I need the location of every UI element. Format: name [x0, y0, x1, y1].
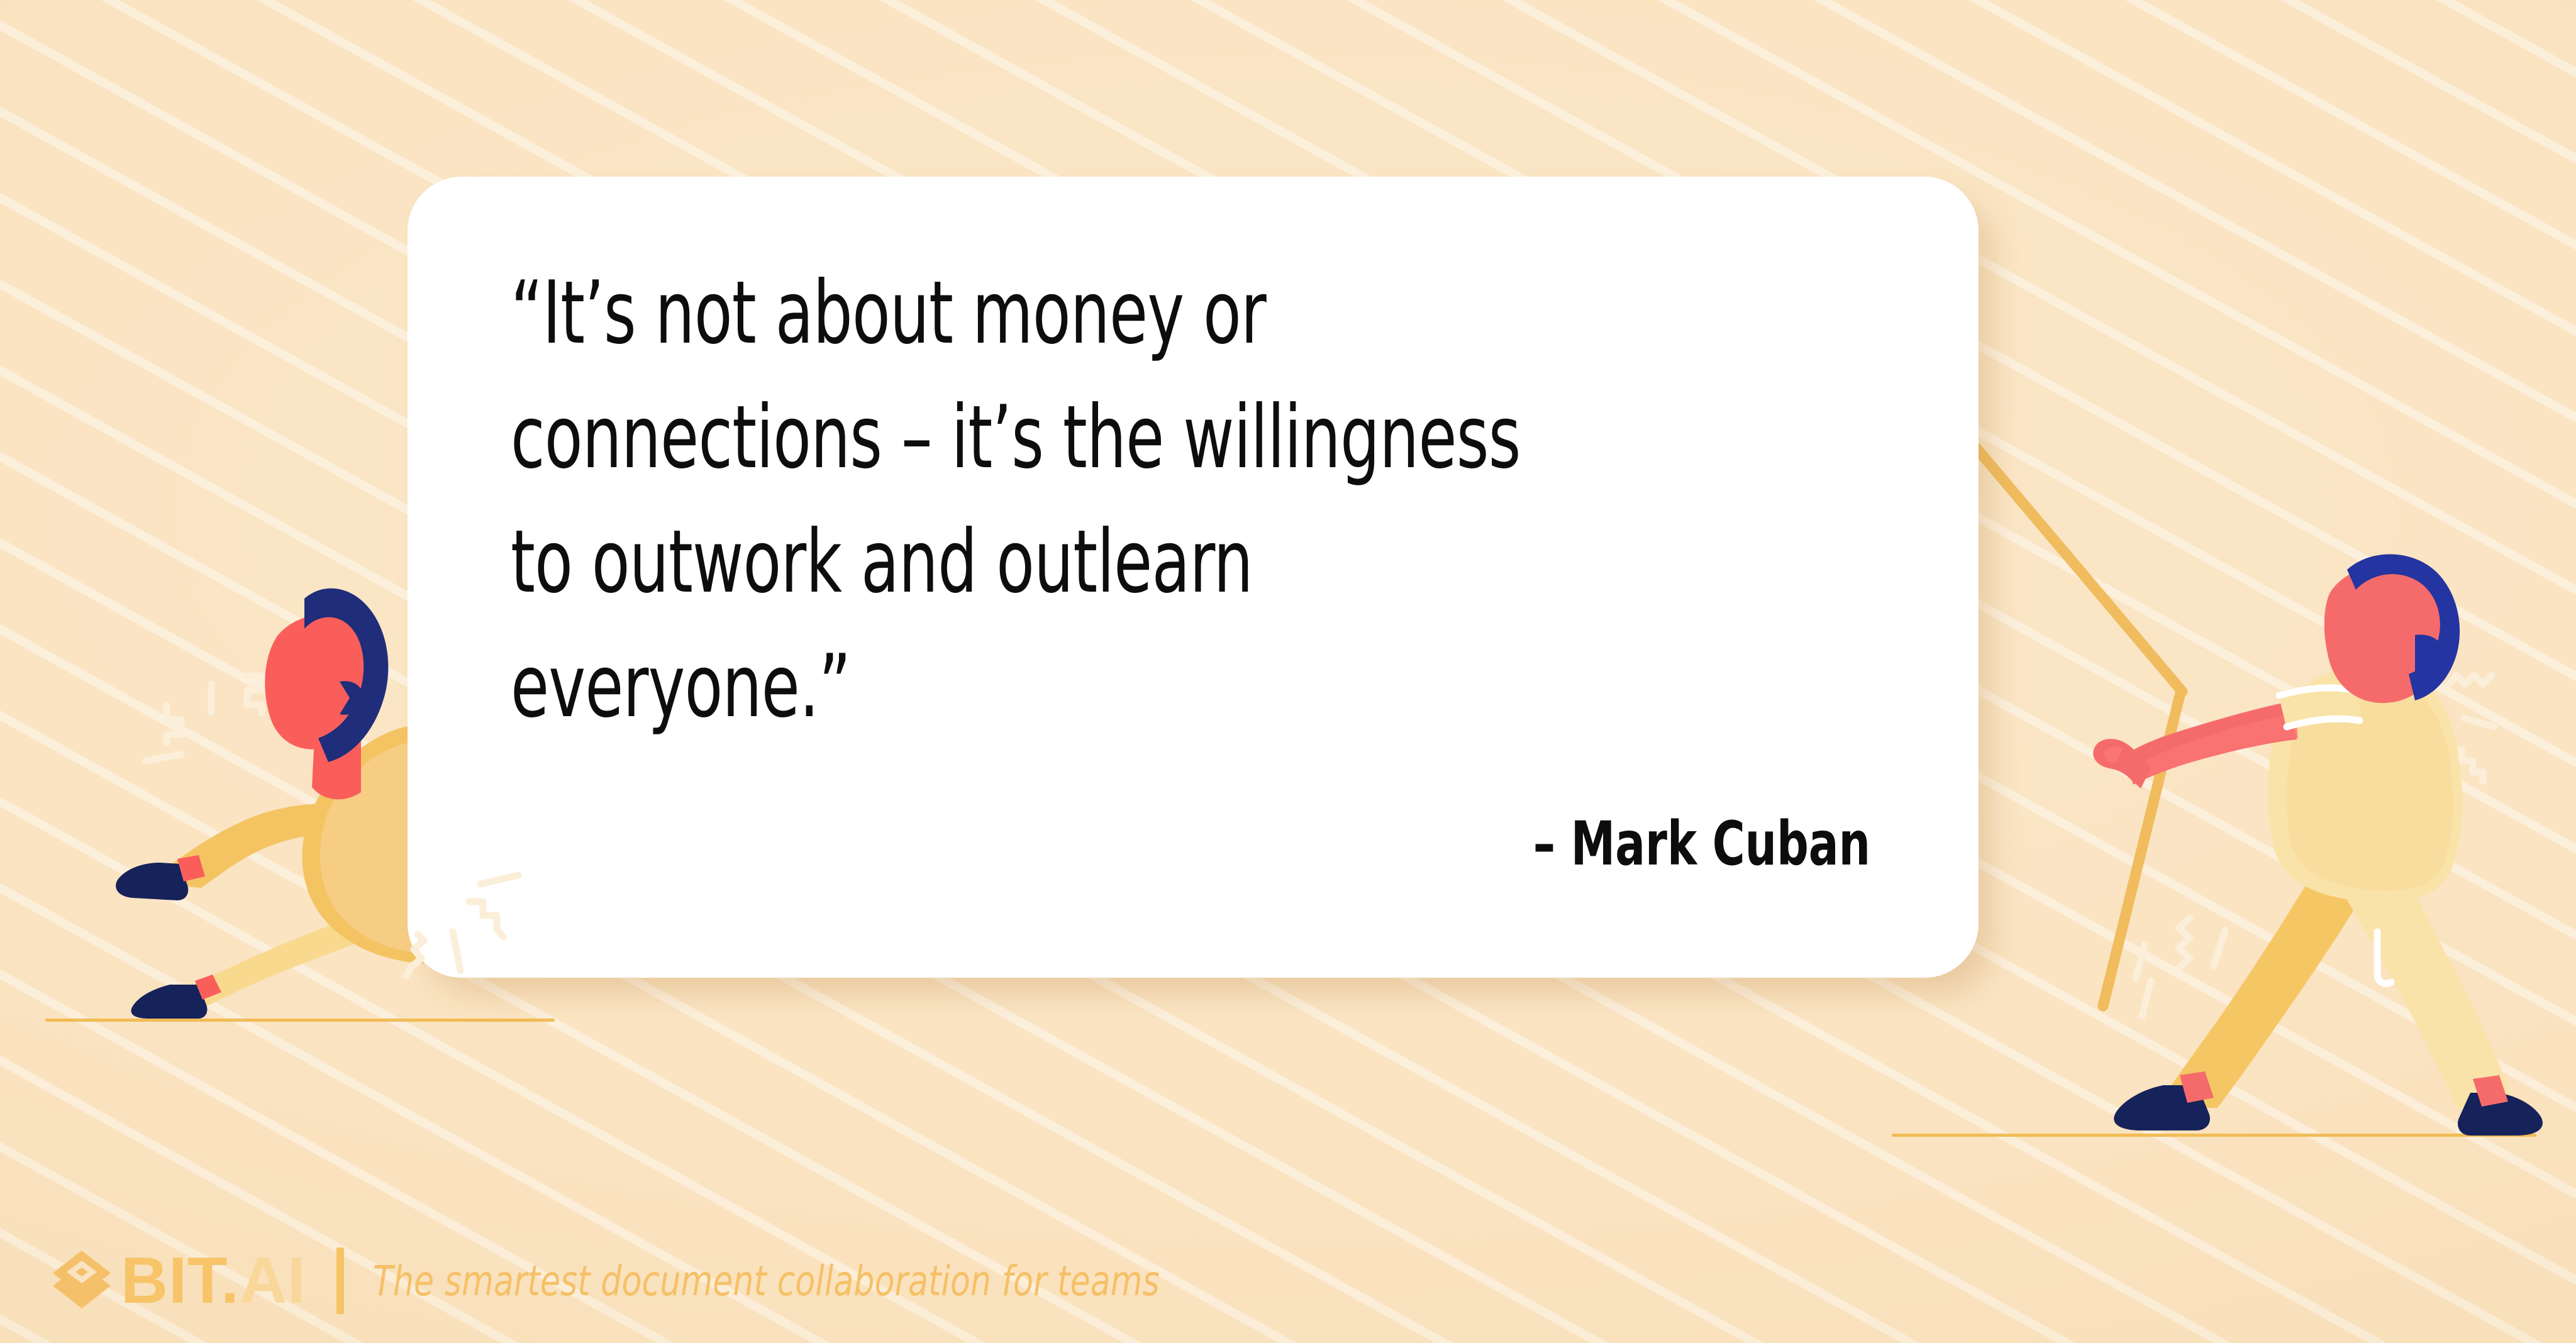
quote-line-2: connections – it’s the willingness	[511, 375, 1582, 500]
quote-line-4: everyone.”	[511, 624, 1582, 749]
quote-attribution: – Mark Cuban	[1533, 809, 1870, 879]
footer-bar: BIT.AI The smartest document collaborati…	[0, 1229, 2576, 1343]
right-character-pulling	[2063, 541, 2576, 1144]
quote-text-block: “It’s not about money or connections – i…	[511, 251, 1850, 749]
footer-tagline: The smartest document collaboration for …	[373, 1257, 1160, 1305]
stacked-diamond-layers-icon	[49, 1248, 114, 1313]
brand-wordmark: BIT.AI	[121, 1248, 306, 1313]
quote-card: “It’s not about money or connections – i…	[408, 177, 1979, 978]
footer-divider	[336, 1247, 344, 1314]
quote-line-3: to outwork and outlearn	[511, 500, 1582, 624]
brand-name-secondary: AI	[240, 1248, 306, 1313]
quote-line-1: “It’s not about money or	[511, 251, 1582, 375]
poster-canvas: “It’s not about money or connections – i…	[0, 0, 2576, 1343]
brand-name-primary: BIT.	[121, 1248, 240, 1313]
